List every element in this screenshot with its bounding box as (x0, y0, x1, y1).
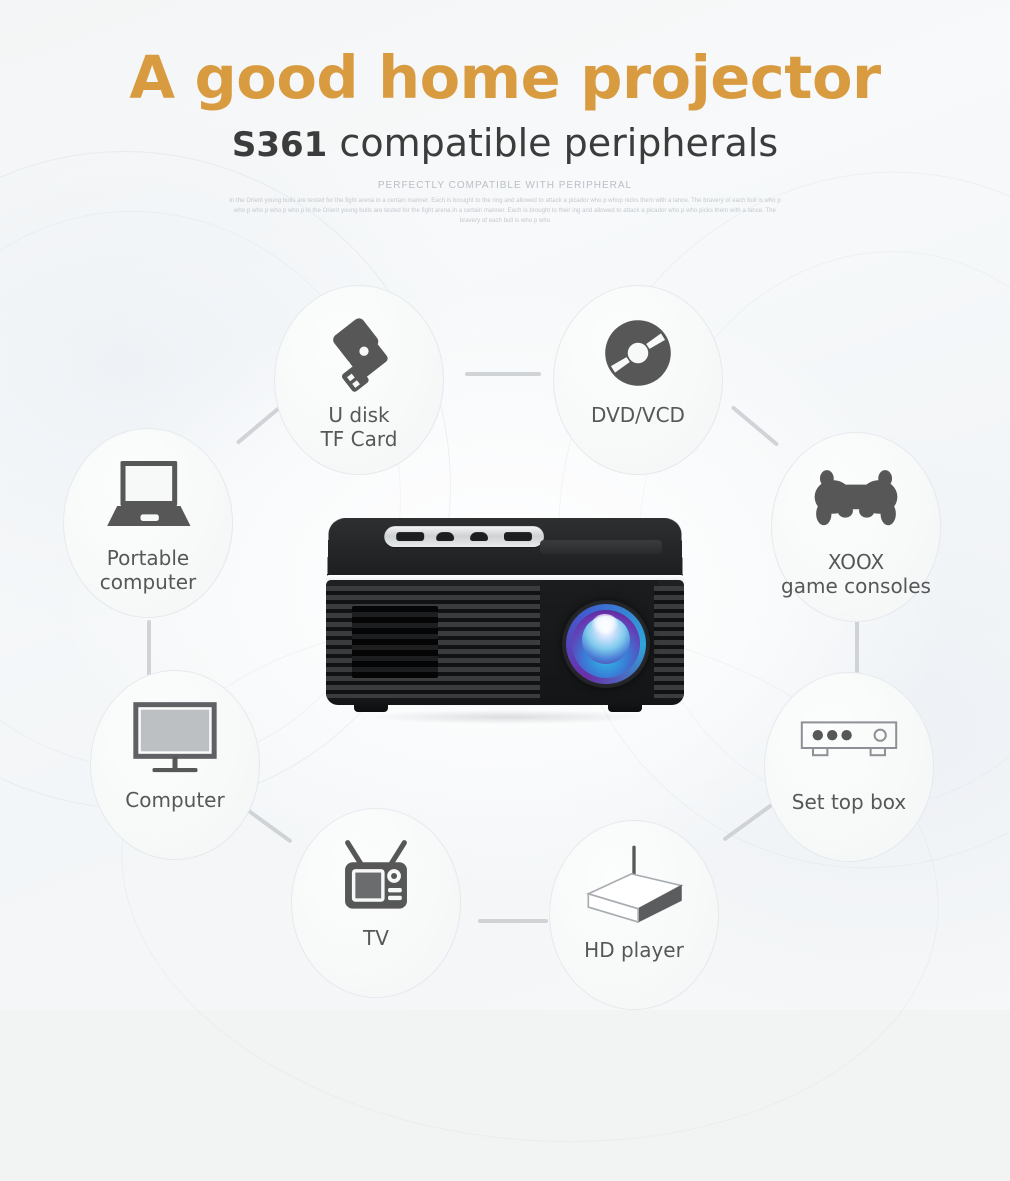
description-paragraph: In the Orient young bulls are tested for… (225, 196, 785, 226)
projector-right-grille (654, 586, 684, 698)
product-image-projector (318, 518, 692, 723)
node-label: Set top box (792, 790, 906, 814)
hd-player-box-icon (580, 842, 688, 934)
peripheral-node-game-consoles[interactable]: XOOX game consoles (771, 432, 941, 622)
peripheral-node-hd-player[interactable]: HD player (549, 820, 719, 1010)
projector-shadow (368, 710, 648, 724)
usb-flash-drive-icon (317, 307, 401, 399)
projector-control-panel[interactable] (384, 526, 544, 547)
connector-laptop-udisk (236, 403, 285, 445)
eyebrow-text: PERFECTLY COMPATIBLE WITH PERIPHERAL (0, 180, 1010, 191)
node-label: DVD/VCD (591, 403, 685, 427)
connector-dvd-game (731, 405, 780, 447)
gamepad-icon (810, 454, 902, 546)
projector-foot (608, 703, 642, 712)
connector-laptop-computer (147, 620, 151, 682)
peripheral-node-dvd[interactable]: DVD/VCD (553, 285, 723, 475)
peripheral-node-set-top-box[interactable]: Set top box (764, 672, 934, 862)
peripheral-node-computer[interactable]: Computer (90, 670, 260, 860)
projector-foot (354, 703, 388, 712)
node-label: XOOX game consoles (781, 550, 931, 599)
node-label: Portable computer (100, 546, 196, 595)
node-label: U disk TF Card (321, 403, 398, 452)
header: A good home projector S361 compatible pe… (0, 0, 1010, 226)
infographic-canvas: A good home projector S361 compatible pe… (0, 0, 1010, 1010)
projector-body (326, 580, 684, 705)
retro-tv-icon (333, 830, 419, 922)
monitor-icon (129, 692, 221, 784)
peripheral-node-udisk[interactable]: U disk TF Card (274, 285, 444, 475)
connector-udisk-dvd (465, 372, 541, 376)
lens-flare (592, 614, 618, 634)
projector-vent-slot (352, 606, 438, 678)
model-name: S361 (232, 125, 327, 165)
node-label: Computer (125, 788, 224, 812)
subtitle-rest: compatible peripherals (327, 121, 778, 165)
projector-lens (562, 600, 650, 688)
set-top-box-icon (797, 694, 901, 786)
page-subtitle: S361 compatible peripherals (0, 124, 1010, 162)
projector-top-shell (327, 518, 683, 580)
node-label: HD player (584, 938, 684, 962)
node-label: TV (363, 926, 389, 950)
laptop-icon (101, 450, 195, 542)
page-title: A good home projector (0, 48, 1010, 107)
peripheral-node-tv[interactable]: TV (291, 808, 461, 998)
peripheral-node-portable-computer[interactable]: Portable computer (63, 428, 233, 618)
disc-icon (597, 307, 679, 399)
connector-tv-hdplayer (478, 919, 548, 923)
projector-top-vent (540, 540, 662, 554)
